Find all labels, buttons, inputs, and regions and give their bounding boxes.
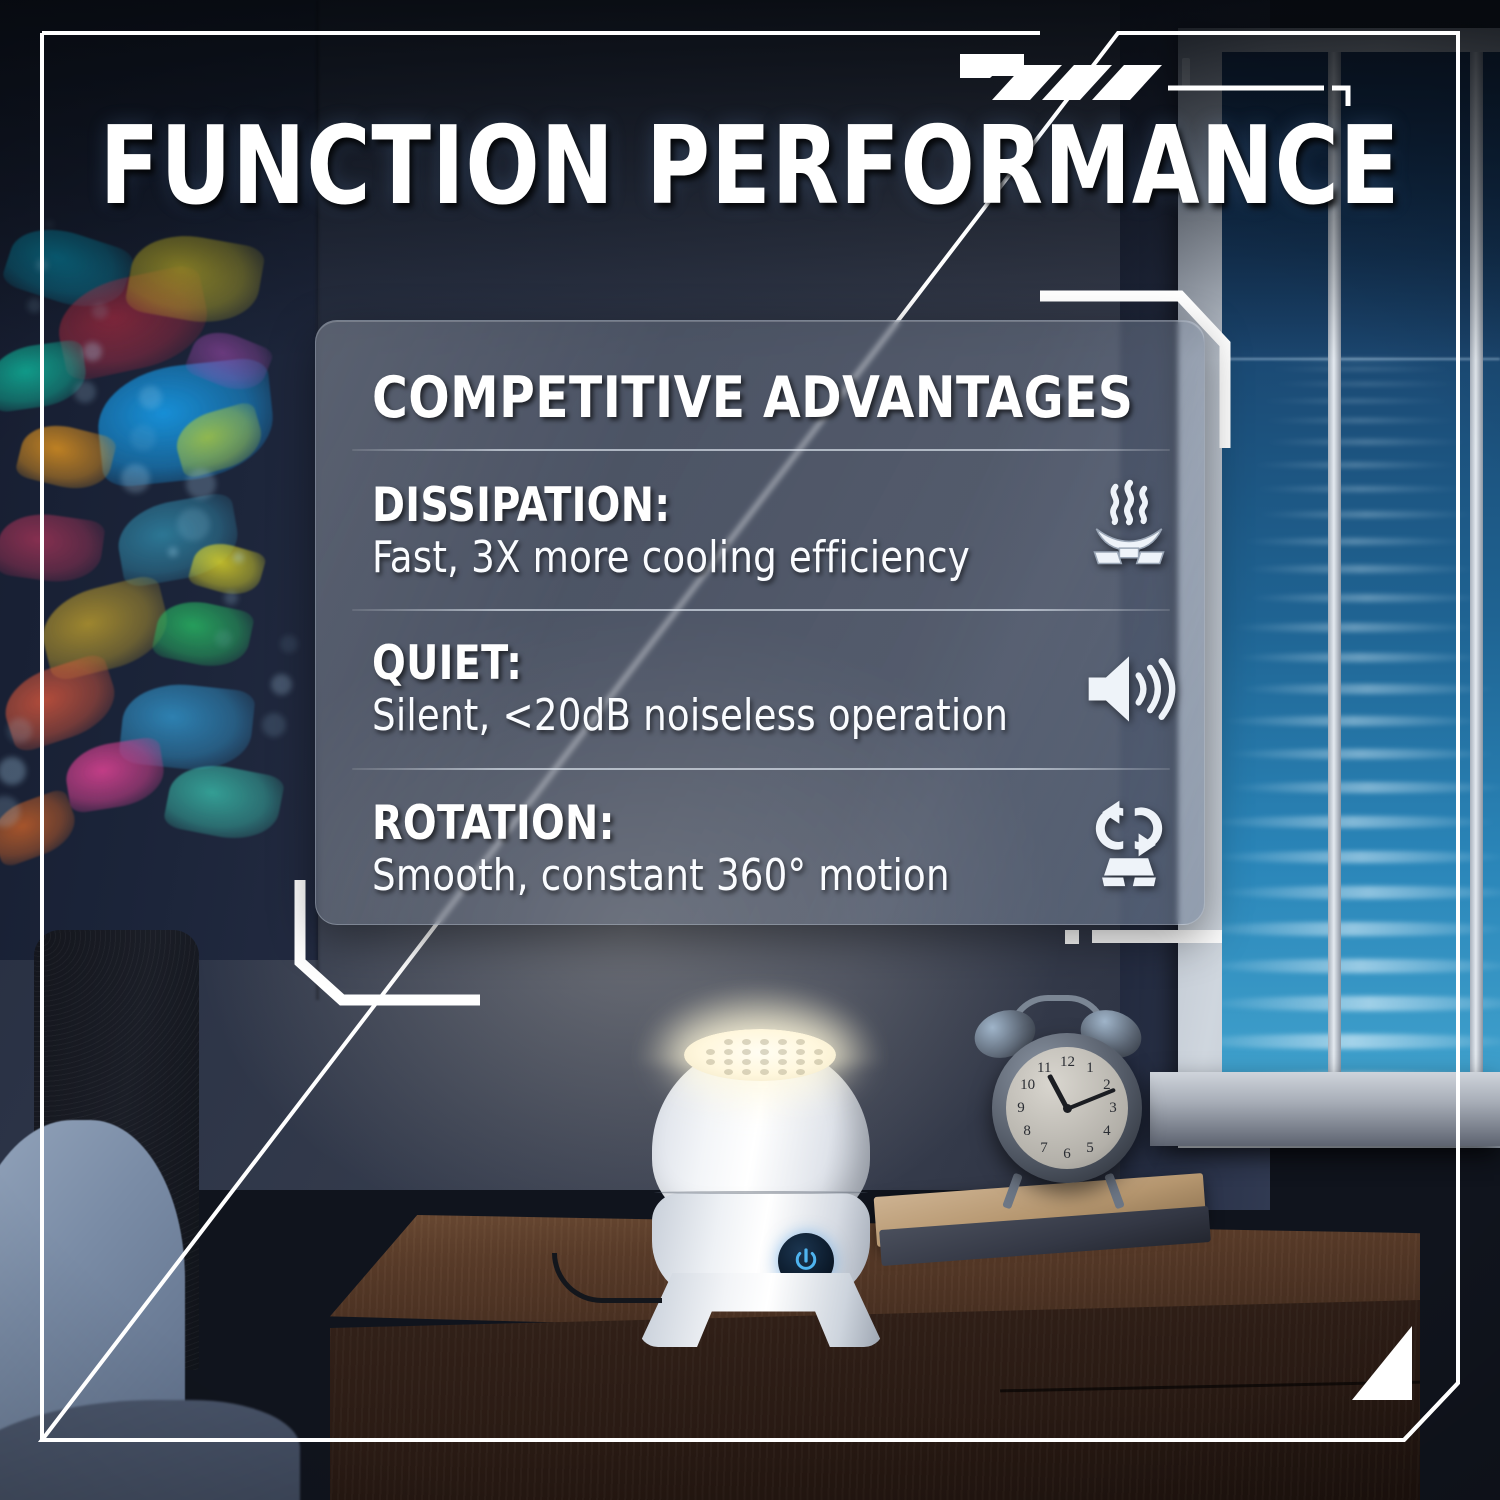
projected-bubble <box>121 464 150 493</box>
projected-fish <box>151 594 256 674</box>
window-sill <box>1150 1072 1500 1146</box>
ocean-wave-crest <box>1242 538 1469 545</box>
projected-bubble <box>186 469 216 499</box>
projected-bubble <box>262 713 286 737</box>
clock-numeral: 8 <box>1020 1122 1034 1140</box>
clock-numeral: 10 <box>1020 1076 1034 1094</box>
clock-numeral: 7 <box>1037 1139 1051 1157</box>
ocean-wave-crest <box>1256 511 1477 518</box>
lamp-body-seam <box>654 1191 868 1194</box>
lens-aperture-dot <box>724 1069 733 1075</box>
projected-fish <box>62 736 169 815</box>
ocean-wave-crest <box>1232 623 1478 631</box>
banner-title: FUNCTION PERFORMANCE <box>75 104 1425 229</box>
ocean-wave-crest <box>1222 816 1497 828</box>
projected-bubble <box>74 381 96 403</box>
ocean-wave-crest <box>1235 653 1487 662</box>
feature-row-rotation: ROTATION: Smooth, constant 360° motion <box>372 799 1172 901</box>
clock-numeral: 11 <box>1037 1059 1051 1077</box>
clock-foot-left <box>1002 1173 1023 1210</box>
feature-row-quiet: QUIET: Silent, <20dB noiseless operation <box>372 639 1172 741</box>
feature-label: DISSIPATION: <box>372 481 1124 530</box>
projected-bubble <box>139 386 162 409</box>
ocean-water <box>1222 358 1500 1072</box>
lens-aperture-dot <box>796 1069 805 1075</box>
ocean-wave-crest <box>1251 462 1460 468</box>
clock-numeral: 4 <box>1100 1122 1114 1140</box>
projected-bubble <box>280 635 298 653</box>
divider-1 <box>352 449 1170 451</box>
rotation-360-icon <box>1081 793 1177 889</box>
ocean-wave-crest <box>1258 399 1454 404</box>
alarm-clock: 123456789101112 <box>968 995 1158 1210</box>
clock-numeral: 6 <box>1060 1145 1074 1163</box>
ocean-wave-crest <box>1261 418 1460 423</box>
ocean-wave-crest <box>1222 851 1500 863</box>
projected-bubble <box>7 718 32 743</box>
projected-bubble <box>36 259 48 271</box>
ocean-wave-crest <box>1254 486 1469 492</box>
projected-bubble <box>0 757 26 785</box>
projected-bubble <box>130 425 156 451</box>
ocean-wave-crest <box>1222 886 1500 899</box>
blanket <box>0 1400 300 1500</box>
horizon-line <box>1222 358 1500 360</box>
card-title: COMPETITIVE ADVANTAGES <box>372 365 1133 431</box>
clock-numeral: 2 <box>1100 1076 1114 1094</box>
lens-aperture-dot <box>778 1049 787 1055</box>
lens-aperture-dot <box>724 1039 733 1045</box>
clock-center-pin <box>1063 1104 1072 1113</box>
clock-body: 123456789101112 <box>992 1033 1142 1183</box>
projected-fish <box>0 508 106 588</box>
ocean-wave-crest <box>1222 716 1487 726</box>
lens-aperture-dot <box>760 1049 769 1055</box>
divider-3 <box>352 768 1170 770</box>
ocean-wave-crest <box>1222 959 1500 973</box>
clock-numeral: 5 <box>1083 1139 1097 1157</box>
power-icon <box>791 1246 821 1276</box>
clock-numeral: 9 <box>1014 1099 1028 1117</box>
projected-bubble <box>27 298 42 313</box>
lens-aperture-dot <box>760 1039 769 1045</box>
lens-aperture-dot <box>796 1039 805 1045</box>
lens-aperture-dot <box>778 1069 787 1075</box>
projected-bubble <box>92 303 108 319</box>
projected-fish <box>162 757 285 847</box>
competitive-advantages-card: COMPETITIVE ADVANTAGES DISSIPATION: Fast… <box>315 320 1205 925</box>
ocean-wave-crest <box>1244 565 1478 572</box>
lens-aperture-dot <box>706 1059 715 1065</box>
feature-label: QUIET: <box>372 639 1124 688</box>
clock-numeral: 1 <box>1083 1059 1097 1077</box>
projected-bubble <box>215 630 232 647</box>
lens-aperture-dot <box>760 1059 769 1065</box>
ocean-wave-crest <box>1247 594 1487 602</box>
lens-aperture-dot <box>778 1059 787 1065</box>
feature-description: Smooth, constant 360° motion <box>372 852 1124 900</box>
divider-2 <box>352 609 1170 611</box>
lamp-light-panel <box>684 1029 836 1081</box>
clock-numeral: 3 <box>1106 1099 1120 1117</box>
speaker-volume-icon <box>1081 641 1177 737</box>
ocean-wave-crest <box>1228 782 1500 793</box>
product-feature-banner: 123456789101112 <box>0 0 1500 1500</box>
feature-description: Silent, <20dB noiseless operation <box>372 692 1124 740</box>
projected-bubble <box>83 342 102 361</box>
lens-aperture-dot <box>814 1059 823 1065</box>
lens-aperture-dot <box>724 1049 733 1055</box>
feature-label: ROTATION: <box>372 799 1124 848</box>
clock-numeral: 12 <box>1060 1053 1074 1071</box>
ocean-wave-crest <box>1226 749 1497 760</box>
projected-bubble <box>224 591 238 605</box>
clock-face: 123456789101112 <box>1006 1047 1128 1169</box>
lens-aperture-dot <box>796 1049 805 1055</box>
ocean-wave-crest <box>1266 367 1456 371</box>
lens-aperture-dot <box>742 1039 751 1045</box>
lens-aperture-dot <box>814 1049 823 1055</box>
feature-description: Fast, 3X more cooling efficiency <box>372 534 1124 582</box>
ocean-wave-crest <box>1222 996 1500 1011</box>
lens-aperture-dot <box>742 1049 751 1055</box>
curtain-rod-bracket <box>1182 58 1190 88</box>
clock-foot-right <box>1104 1173 1125 1210</box>
lens-aperture-dot <box>742 1059 751 1065</box>
lens-aperture-dot <box>778 1039 787 1045</box>
window-mullion-right <box>1470 52 1483 1072</box>
lens-aperture-dot <box>742 1069 751 1075</box>
projected-bubble <box>271 674 292 695</box>
lens-aperture-dot <box>796 1059 805 1065</box>
ocean-wave-crest <box>1238 684 1496 693</box>
heat-dissipation-icon <box>1081 479 1177 575</box>
projected-fish <box>0 339 90 414</box>
ocean-wave-crest <box>1264 439 1469 444</box>
fish-light-projection <box>0 215 325 865</box>
projected-bubble <box>233 552 244 563</box>
ocean-wave-projector-lamp[interactable] <box>630 985 890 1315</box>
feature-row-dissipation: DISSIPATION: Fast, 3X more cooling effic… <box>372 481 1172 583</box>
ocean-wave-crest <box>1269 382 1462 386</box>
projected-bubble <box>177 508 210 541</box>
lens-aperture-dot <box>724 1059 733 1065</box>
lens-aperture-dot <box>760 1069 769 1075</box>
lens-aperture-dot <box>706 1049 715 1055</box>
projected-bubble <box>45 220 54 229</box>
projected-bubble <box>168 547 178 557</box>
ocean-wave-crest <box>1222 1034 1500 1049</box>
ocean-wave-crest <box>1222 922 1500 935</box>
